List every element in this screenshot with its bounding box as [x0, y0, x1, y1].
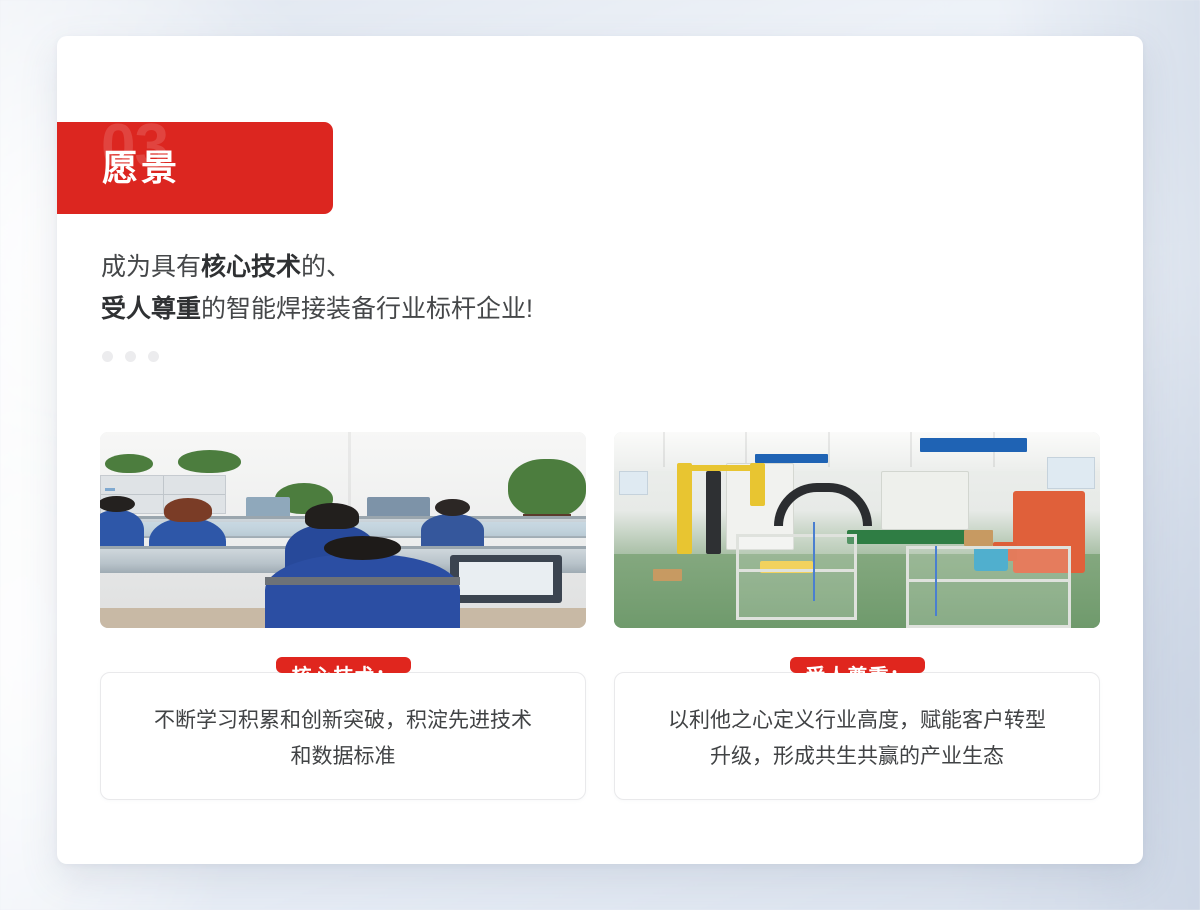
- statement-line2-strong: 受人尊重: [101, 295, 201, 323]
- vision-column-core-technology: 核心技术： 不断学习积累和创新突破，积淀先进技术 和数据标准: [100, 432, 586, 800]
- vision-statement: 成为具有核心技术的、 受人尊重的智能焊接装备行业标杆企业!: [101, 246, 533, 330]
- carousel-dot-2[interactable]: [125, 351, 136, 362]
- respected-caption-line-1: 以利他之心定义行业高度，赋能客户转型: [639, 703, 1075, 739]
- statement-line-2: 受人尊重的智能焊接装备行业标杆企业!: [101, 288, 533, 330]
- core-technology-caption-card: 不断学习积累和创新突破，积淀先进技术 和数据标准: [100, 672, 586, 800]
- vision-section-card: 03 愿景 成为具有核心技术的、 受人尊重的智能焊接装备行业标杆企业!: [57, 36, 1143, 864]
- vision-column-respected: 受人尊重： 以利他之心定义行业高度，赋能客户转型 升级，形成共生共赢的产业生态: [614, 432, 1100, 800]
- factory-production-line-photo: [614, 432, 1100, 628]
- carousel-dots-indicator[interactable]: [102, 351, 159, 362]
- respected-caption-line-2: 升级，形成共生共赢的产业生态: [639, 739, 1075, 775]
- core-technology-badge: 核心技术：: [276, 657, 411, 673]
- statement-line-1: 成为具有核心技术的、: [101, 246, 533, 288]
- office-workstations-photo: [100, 432, 586, 628]
- core-technology-caption-line-1: 不断学习积累和创新突破，积淀先进技术: [125, 703, 561, 739]
- statement-line1-suffix: 的、: [301, 253, 351, 281]
- carousel-dot-1[interactable]: [102, 351, 113, 362]
- vision-columns: 核心技术： 不断学习积累和创新突破，积淀先进技术 和数据标准: [100, 432, 1100, 800]
- section-title-banner: 03 愿景: [57, 122, 333, 214]
- respected-badge: 受人尊重：: [790, 657, 925, 673]
- office-photo-art: [100, 432, 586, 628]
- statement-line1-strong: 核心技术: [201, 253, 301, 281]
- respected-caption-card: 以利他之心定义行业高度，赋能客户转型 升级，形成共生共赢的产业生态: [614, 672, 1100, 800]
- factory-photo-art: [614, 432, 1100, 628]
- statement-line1-prefix: 成为具有: [101, 253, 201, 281]
- section-title-text: 愿景: [102, 149, 180, 187]
- core-technology-caption-line-2: 和数据标准: [125, 739, 561, 775]
- statement-line2-suffix: 的智能焊接装备行业标杆企业!: [201, 295, 533, 323]
- carousel-dot-3[interactable]: [148, 351, 159, 362]
